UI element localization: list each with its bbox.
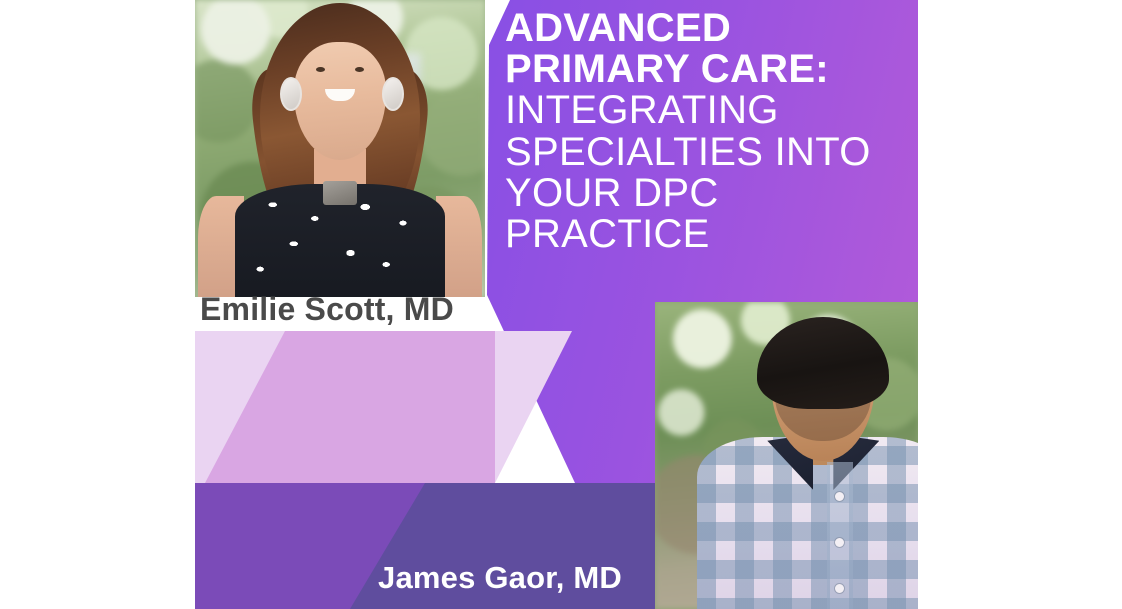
eye-right (355, 67, 364, 72)
headline-line-6: PRACTICE (505, 214, 905, 255)
earring-left (280, 77, 302, 111)
webinar-promo-banner: ADVANCED PRIMARY CARE: INTEGRATING SPECI… (0, 0, 1122, 609)
earring-right (382, 77, 404, 111)
speaker-name-james-gaor: James Gaor, MD (378, 560, 622, 596)
necklace-pendant (323, 181, 357, 205)
headline-text-block: ADVANCED PRIMARY CARE: INTEGRATING SPECI… (505, 8, 905, 255)
headline-line-2: PRIMARY CARE: (505, 49, 905, 90)
headline-line-1: ADVANCED (505, 8, 905, 49)
speaker-photo-james-gaor (655, 302, 918, 609)
speaker-name-emilie-scott: Emilie Scott, MD (200, 291, 454, 328)
headline-line-3: INTEGRATING (505, 90, 905, 131)
speaker-photo-emilie-scott (195, 0, 485, 297)
headline-line-5: YOUR DPC (505, 173, 905, 214)
headline-line-4: SPECIALTIES INTO (505, 132, 905, 173)
eye-left (316, 67, 325, 72)
